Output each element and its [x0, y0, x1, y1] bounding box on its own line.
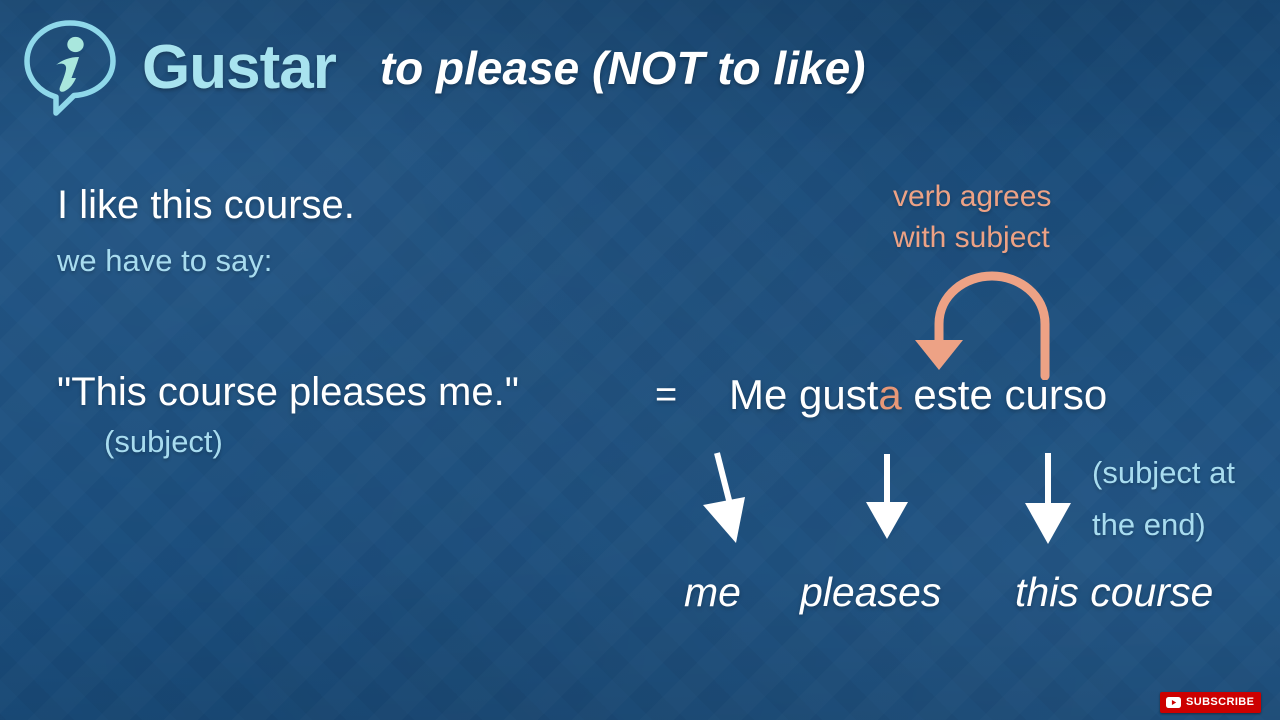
- subject-at-end-note: (subject at the end): [1092, 447, 1235, 551]
- spanish-sentence-before: Me gust: [729, 371, 878, 418]
- spanish-sentence: Me gusta este curso: [729, 371, 1107, 419]
- subject-at-end-note-line2: the end): [1092, 499, 1235, 551]
- page-title: Gustar: [142, 37, 336, 99]
- spanish-sentence-after: este curso: [902, 371, 1107, 418]
- gloss-pleases: pleases: [800, 569, 1015, 616]
- english-sentence: I like this course.: [57, 183, 355, 228]
- verb-agreement-note-line1: verb agrees: [893, 176, 1051, 217]
- slide-canvas: Gustar to please (NOT to like) I like th…: [0, 0, 1280, 720]
- slide-header: Gustar to please (NOT to like): [18, 16, 865, 120]
- gloss-this-course: this course: [1015, 569, 1213, 616]
- youtube-play-icon: [1166, 697, 1181, 708]
- gloss-me: me: [684, 569, 800, 616]
- gloss-row: me pleases this course: [684, 569, 1213, 616]
- spanish-sentence-highlight: a: [878, 371, 901, 418]
- down-arrow-icon-1: [703, 453, 745, 543]
- subject-label: (subject): [104, 424, 223, 460]
- verb-agreement-note: verb agrees with subject: [893, 176, 1051, 259]
- down-arrow-icon-3: [1025, 453, 1071, 544]
- subscribe-label: SUBSCRIBE: [1186, 697, 1254, 708]
- verb-agreement-note-line2: with subject: [893, 217, 1051, 258]
- down-arrow-icon-2: [866, 454, 908, 539]
- prompt-text: we have to say:: [57, 243, 272, 279]
- u-turn-arrow-icon: [885, 258, 1080, 380]
- page-subtitle: to please (NOT to like): [380, 45, 866, 91]
- youtube-subscribe-button[interactable]: SUBSCRIBE: [1160, 692, 1261, 713]
- subject-at-end-note-line1: (subject at: [1092, 447, 1235, 499]
- equals-sign: =: [655, 374, 677, 417]
- literal-sentence: "This course pleases me.": [57, 370, 519, 415]
- down-arrow-group: [690, 450, 1090, 550]
- info-speech-bubble-icon: [18, 16, 122, 120]
